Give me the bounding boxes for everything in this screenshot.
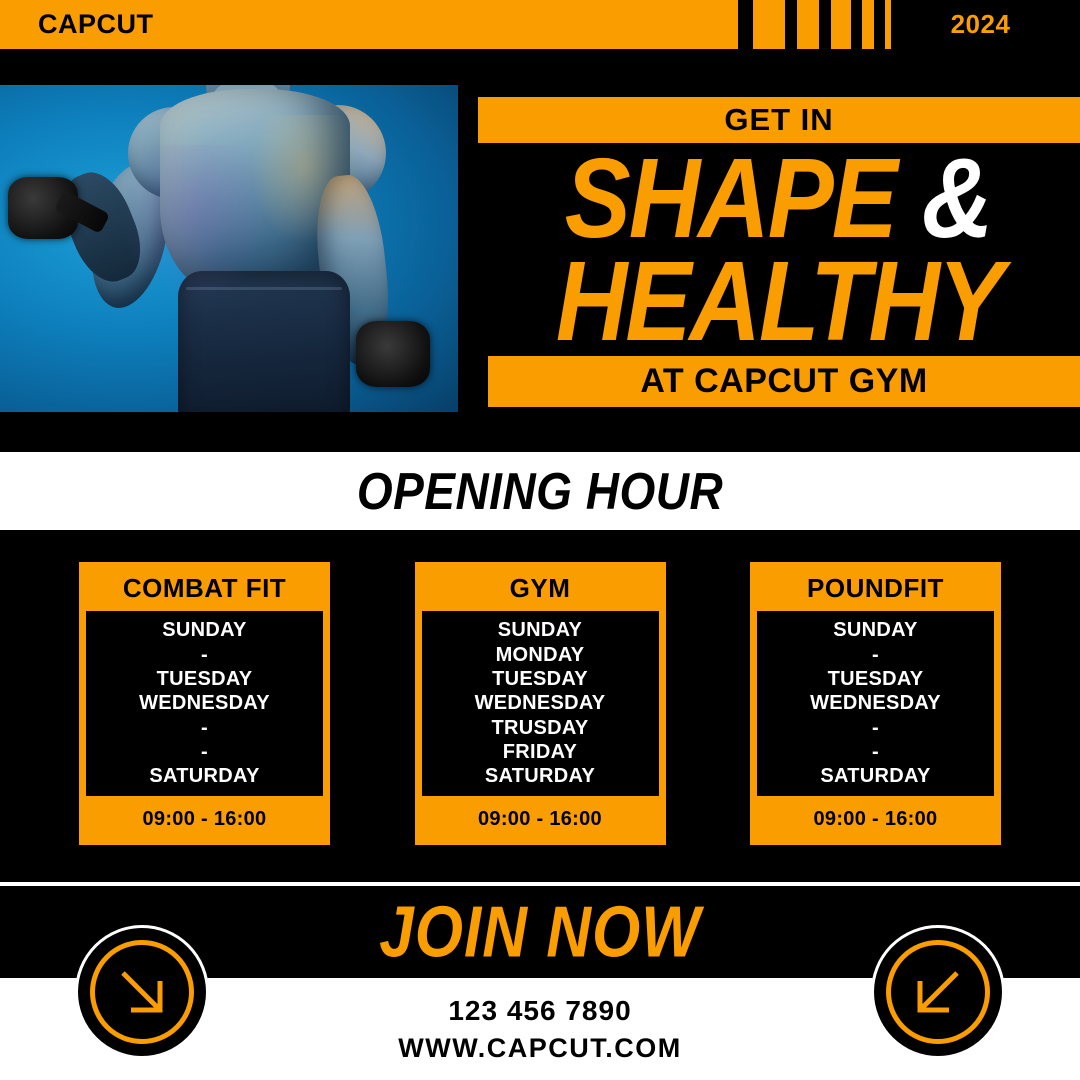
day-item: -	[872, 716, 879, 740]
day-item: -	[872, 643, 879, 667]
day-item: WEDNESDAY	[475, 691, 606, 715]
card-days-list: SUNDAY - TUESDAY WEDNESDAY - - SATURDAY	[755, 609, 996, 798]
schedule-cards: COMBAT FIT SUNDAY - TUESDAY WEDNESDAY - …	[79, 562, 1001, 845]
card-title: COMBAT FIT	[84, 567, 325, 609]
stripe-2	[753, 0, 785, 49]
hero-section: GET IN SHAPE & HEALTHY AT CAPCUT GYM	[0, 49, 1080, 452]
stripe-gap-2	[785, 0, 797, 49]
section-title-band: OPENING HOUR	[0, 452, 1080, 530]
stripe-3	[797, 0, 819, 49]
title-line-2: HEALTHY	[478, 245, 1080, 355]
card-title: POUNDFIT	[755, 567, 996, 609]
join-now-label[interactable]: JOIN NOW	[379, 891, 700, 973]
eyebrow-text: GET IN	[724, 102, 833, 138]
top-header-bar: CAPCUT 2024	[0, 0, 1080, 49]
card-title: GYM	[420, 567, 661, 609]
phone-number: 123 456 7890	[448, 995, 631, 1027]
brand-logo-text: CAPCUT	[38, 9, 154, 40]
day-item: FRIDAY	[503, 740, 577, 764]
card-days-list: SUNDAY MONDAY TUESDAY WEDNESDAY TRUSDAY …	[420, 609, 661, 798]
arrow-down-left-icon	[907, 961, 969, 1023]
dumbbell-lower	[356, 321, 430, 387]
stripe-gap-4	[851, 0, 862, 49]
day-item: SATURDAY	[820, 764, 930, 788]
decorative-stripes	[718, 0, 891, 49]
day-item: -	[201, 716, 208, 740]
day-item: SUNDAY	[498, 618, 582, 642]
cta-badge-right[interactable]	[871, 925, 1005, 1059]
stripe-gap-1	[738, 0, 753, 49]
day-item: TUESDAY	[828, 667, 924, 691]
day-item: WEDNESDAY	[810, 691, 941, 715]
day-item: -	[201, 643, 208, 667]
brand-bar: CAPCUT	[0, 0, 718, 49]
card-hours: 09:00 - 16:00	[755, 798, 996, 840]
subtitle-bar: AT CAPCUT GYM	[488, 356, 1080, 407]
day-item: SATURDAY	[485, 764, 595, 788]
stripe-gap-5	[874, 0, 885, 49]
dumbbell-upper	[8, 177, 78, 239]
day-item: WEDNESDAY	[139, 691, 270, 715]
schedule-section: COMBAT FIT SUNDAY - TUESDAY WEDNESDAY - …	[0, 530, 1080, 882]
card-hours: 09:00 - 16:00	[84, 798, 325, 840]
day-item: TRUSDAY	[492, 716, 589, 740]
arrow-down-right-icon	[111, 961, 173, 1023]
day-item: -	[872, 740, 879, 764]
day-item: TUESDAY	[157, 667, 253, 691]
subtitle-text: AT CAPCUT GYM	[640, 362, 927, 401]
card-days-list: SUNDAY - TUESDAY WEDNESDAY - - SATURDAY	[84, 609, 325, 798]
day-item: SUNDAY	[833, 618, 917, 642]
stripe-1	[718, 0, 738, 49]
cta-badge-left[interactable]	[75, 925, 209, 1059]
jeans	[178, 271, 350, 412]
schedule-card-combat-fit[interactable]: COMBAT FIT SUNDAY - TUESDAY WEDNESDAY - …	[79, 562, 330, 845]
website-url: WWW.CAPCUT.COM	[398, 1033, 681, 1064]
athlete-figure	[0, 85, 458, 412]
hero-headline: GET IN SHAPE & HEALTHY AT CAPCUT GYM	[478, 49, 1080, 452]
day-item: MONDAY	[496, 643, 585, 667]
title-line-1: SHAPE &	[478, 145, 1080, 250]
stripe-5	[862, 0, 874, 49]
stripe-4	[831, 0, 851, 49]
day-item: SUNDAY	[162, 618, 246, 642]
poster-root: CAPCUT 2024	[0, 0, 1080, 1080]
stripe-gap-3	[819, 0, 831, 49]
card-hours: 09:00 - 16:00	[420, 798, 661, 840]
page-title: OPENING HOUR	[357, 461, 723, 521]
day-item: TUESDAY	[492, 667, 588, 691]
hero-photo	[0, 85, 458, 412]
title-healthy: HEALTHY	[556, 244, 1002, 357]
badge-ring	[90, 940, 194, 1044]
schedule-card-poundfit[interactable]: POUNDFIT SUNDAY - TUESDAY WEDNESDAY - - …	[750, 562, 1001, 845]
day-item: SATURDAY	[149, 764, 259, 788]
schedule-card-gym[interactable]: GYM SUNDAY MONDAY TUESDAY WEDNESDAY TRUS…	[415, 562, 666, 845]
day-item: -	[201, 740, 208, 764]
badge-ring	[886, 940, 990, 1044]
year-label: 2024	[891, 0, 1080, 49]
